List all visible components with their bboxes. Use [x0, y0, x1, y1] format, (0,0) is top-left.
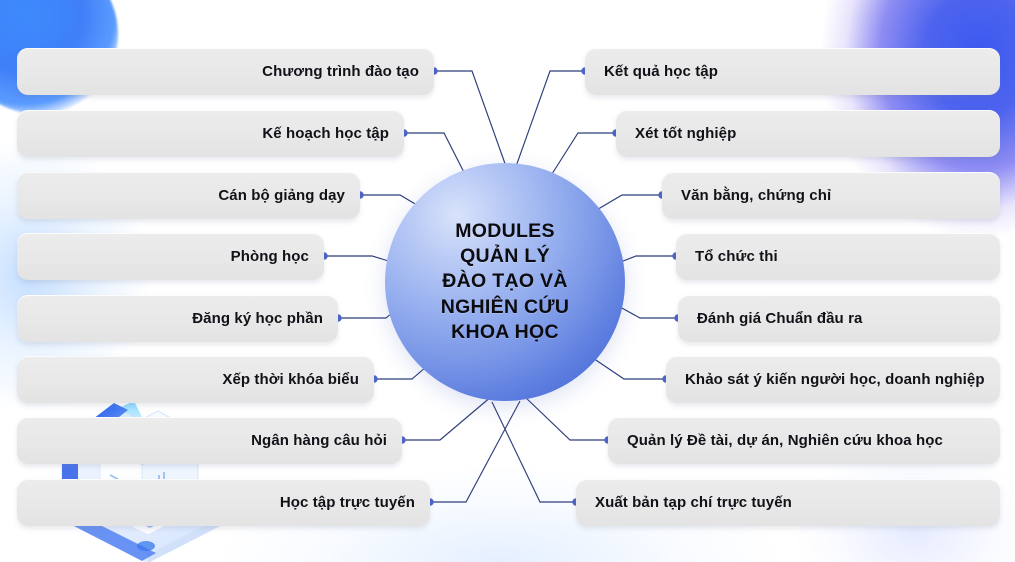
module-label: Văn bằng, chứng chỉ — [681, 187, 831, 204]
module-item-ket-qua-hoc-tap[interactable]: Kết quả học tập — [585, 48, 1000, 95]
module-label: Đăng ký học phần — [192, 310, 323, 327]
module-label: Học tập trực tuyến — [280, 494, 415, 511]
module-label: Xét tốt nghiệp — [635, 125, 736, 142]
module-item-to-chuc-thi[interactable]: Tổ chức thi — [676, 233, 1000, 280]
module-item-hoc-tap-truc-tuyen[interactable]: Học tập trực tuyến — [17, 479, 430, 526]
module-label: Tổ chức thi — [695, 248, 778, 265]
module-label: Khảo sát ý kiến người học, doanh nghiệp — [685, 371, 985, 388]
module-label: Kết quả học tập — [604, 63, 718, 80]
center-title-line-1: MODULES — [441, 219, 570, 244]
module-item-khao-sat-y-kien[interactable]: Khảo sát ý kiến người học, doanh nghiệp — [666, 356, 1000, 403]
module-item-ngan-hang-cau-hoi[interactable]: Ngân hàng câu hỏi — [17, 417, 402, 464]
center-node-title: MODULES QUẢN LÝ ĐÀO TẠO VÀ NGHIÊN CỨU KH… — [441, 219, 570, 346]
module-item-ke-hoach-hoc-tap[interactable]: Kế hoạch học tập — [17, 110, 404, 157]
module-item-can-bo-giang-day[interactable]: Cán bộ giảng dạy — [17, 172, 360, 219]
module-item-chuong-trinh-dao-tao[interactable]: Chương trình đào tạo — [17, 48, 434, 95]
module-item-danh-gia-chuan-dau-ra[interactable]: Đánh giá Chuẩn đầu ra — [678, 295, 1000, 342]
center-node-sphere: MODULES QUẢN LÝ ĐÀO TẠO VÀ NGHIÊN CỨU KH… — [385, 163, 625, 401]
module-label: Kế hoạch học tập — [262, 125, 389, 142]
module-label: Quản lý Đề tài, dự án, Nghiên cứu khoa h… — [627, 432, 943, 449]
center-title-line-3: ĐÀO TẠO VÀ — [441, 269, 570, 294]
module-label: Xuất bản tạp chí trực tuyến — [595, 494, 792, 511]
module-label: Đánh giá Chuẩn đầu ra — [697, 310, 862, 327]
module-item-dang-ky-hoc-phan[interactable]: Đăng ký học phần — [17, 295, 338, 342]
module-item-phong-hoc[interactable]: Phòng học — [17, 233, 324, 280]
module-item-xep-thoi-khoa-bieu[interactable]: Xếp thời khóa biểu — [17, 356, 374, 403]
module-label: Chương trình đào tạo — [262, 63, 419, 80]
infographic-canvas: MODULES QUẢN LÝ ĐÀO TẠO VÀ NGHIÊN CỨU KH… — [0, 0, 1015, 562]
center-title-line-4: NGHIÊN CỨU — [441, 295, 570, 320]
module-label: Xếp thời khóa biểu — [222, 371, 359, 388]
module-label: Phòng học — [231, 248, 309, 265]
module-item-xuat-ban-tap-chi[interactable]: Xuất bản tạp chí trực tuyến — [576, 479, 1000, 526]
center-title-line-5: KHOA HỌC — [441, 320, 570, 345]
module-label: Cán bộ giảng dạy — [218, 187, 345, 204]
module-item-xet-tot-nghiep[interactable]: Xét tốt nghiệp — [616, 110, 1000, 157]
center-title-line-2: QUẢN LÝ — [441, 244, 570, 269]
module-label: Ngân hàng câu hỏi — [251, 432, 387, 449]
module-item-quan-ly-de-tai[interactable]: Quản lý Đề tài, dự án, Nghiên cứu khoa h… — [608, 417, 1000, 464]
module-item-van-bang-chung-chi[interactable]: Văn bằng, chứng chỉ — [662, 172, 1000, 219]
